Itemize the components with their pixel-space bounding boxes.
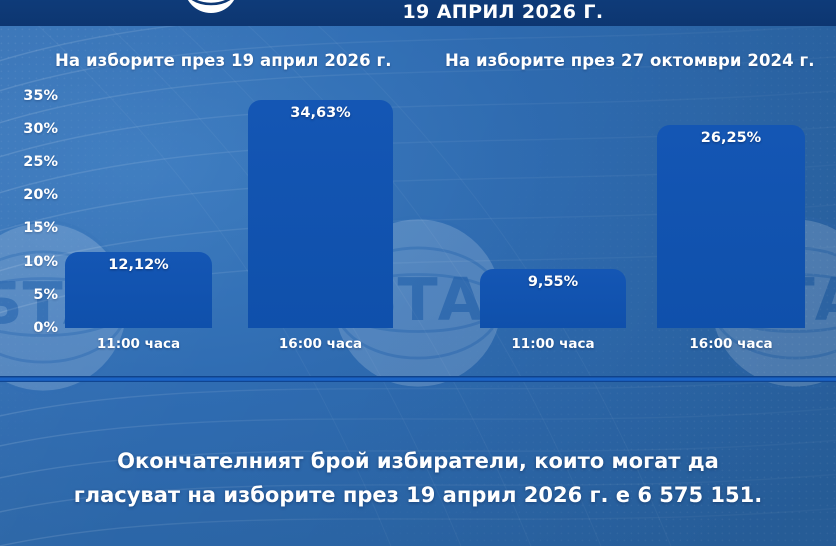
footer-caption-line-2: гласуват на изборите през 19 април 2026 … xyxy=(40,478,796,512)
y-axis-tick: 35% xyxy=(2,88,58,104)
y-axis-tick: 30% xyxy=(2,121,58,137)
y-axis-tick: 25% xyxy=(2,154,58,170)
bar-value-label: 26,25% xyxy=(657,130,805,146)
group-header-2024: На изборите през 27 октомври 2024 г. xyxy=(445,51,815,70)
bar-chart: На изборите през 19 април 2026 г. На изб… xyxy=(0,26,836,378)
footer-section: Окончателният брой избиратели, които мог… xyxy=(0,382,836,546)
x-axis-tick: 11:00 часа xyxy=(480,336,626,352)
y-axis: 35% 30% 25% 20% 15% 10% 5% 0% xyxy=(0,26,58,378)
y-axis-tick: 5% xyxy=(2,287,58,303)
y-axis-tick: 20% xyxy=(2,187,58,203)
bar-2024-1600 xyxy=(657,125,805,328)
infographic-stage: БТА БТА БТА 19 АПРИЛ xyxy=(0,0,836,546)
group-header-2026: На изборите през 19 април 2026 г. xyxy=(55,51,392,70)
y-axis-tick: 15% xyxy=(2,220,58,236)
x-axis-tick: 11:00 часа xyxy=(65,336,212,352)
header-band: 19 АПРИЛ 2026 Г. xyxy=(0,0,836,26)
footer-caption-line-1: Окончателният брой избиратели, които мог… xyxy=(40,444,796,478)
y-axis-tick: 10% xyxy=(2,254,58,270)
bar-value-label: 9,55% xyxy=(480,274,626,290)
x-axis-tick: 16:00 часа xyxy=(248,336,393,352)
y-axis-tick: 0% xyxy=(2,320,58,336)
x-axis-tick: 16:00 часа xyxy=(657,336,805,352)
bar-value-label: 34,63% xyxy=(248,105,393,121)
bar-2026-1600 xyxy=(248,100,393,328)
header-title: 19 АПРИЛ 2026 Г. xyxy=(85,0,836,26)
bar-value-label: 12,12% xyxy=(65,257,212,273)
footer-caption: Окончателният брой избиратели, които мог… xyxy=(40,444,796,512)
